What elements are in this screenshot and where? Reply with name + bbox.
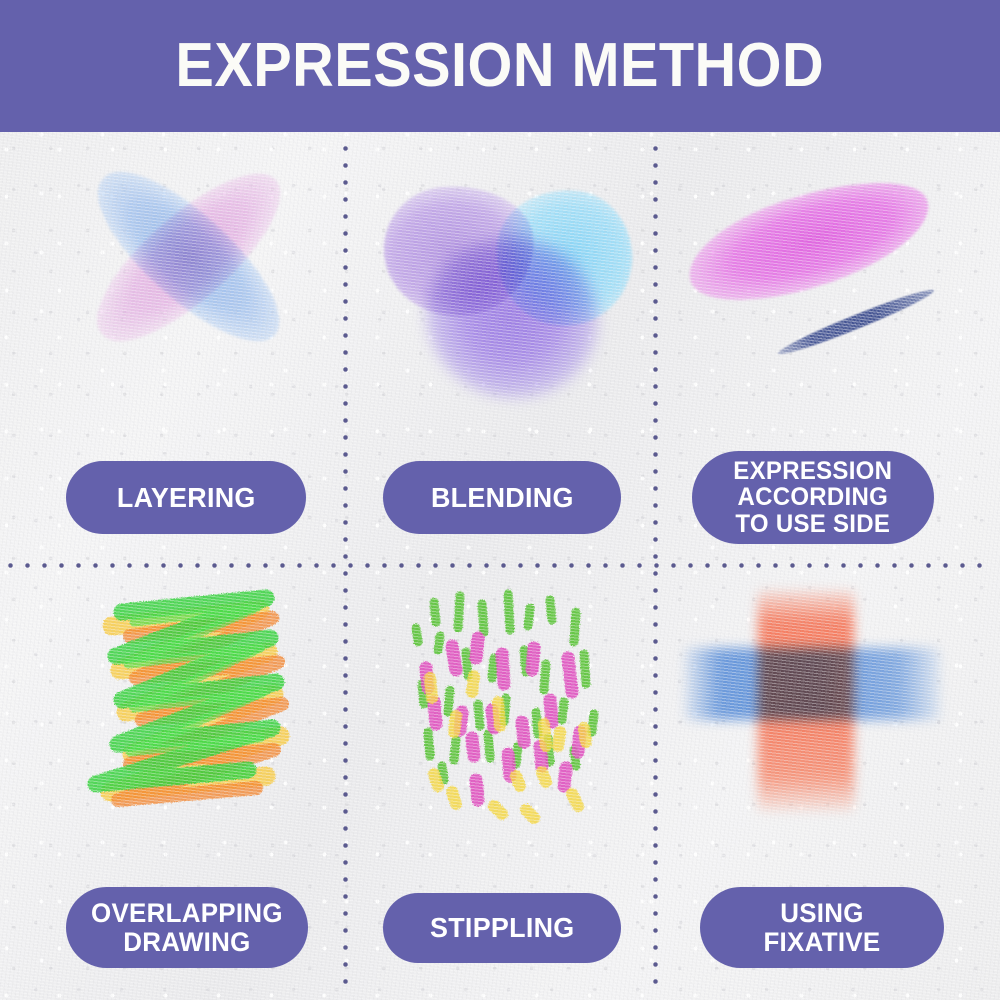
label-pill-using-fixative[interactable]: USING FIXATIVE bbox=[700, 887, 944, 968]
label-pill-overlapping-drawing[interactable]: OVERLAPPING DRAWING bbox=[66, 887, 308, 968]
blending-blended-core bbox=[426, 238, 598, 398]
fixative-orange-band bbox=[758, 590, 854, 812]
label-pill-stippling[interactable]: STIPPLING bbox=[383, 893, 621, 963]
stippling-swatch bbox=[398, 580, 620, 825]
label-pill-layering[interactable]: LAYERING bbox=[66, 461, 306, 534]
layering-swatch bbox=[55, 175, 325, 435]
poster: EXPRESSION METHOD LAYERING BLENDING EXPR… bbox=[0, 0, 1000, 1000]
stippling-dashes bbox=[398, 580, 620, 825]
label-text-using-fixative: USING FIXATIVE bbox=[763, 899, 880, 956]
label-pill-use-side[interactable]: EXPRESSION ACCORDING TO USE SIDE bbox=[692, 451, 934, 544]
label-text-stippling: STIPPLING bbox=[430, 913, 574, 943]
page-title: EXPRESSION METHOD bbox=[176, 35, 825, 97]
header-bar: EXPRESSION METHOD bbox=[0, 0, 1000, 132]
label-text-layering: LAYERING bbox=[117, 483, 256, 513]
label-text-overlapping-drawing: OVERLAPPING DRAWING bbox=[91, 899, 283, 956]
divider-vertical-right bbox=[653, 146, 658, 990]
using-fixative-swatch bbox=[678, 576, 950, 838]
divider-horizontal bbox=[8, 563, 992, 568]
use-side-swatch bbox=[676, 185, 956, 420]
label-pill-blending[interactable]: BLENDING bbox=[383, 461, 621, 534]
divider-vertical-left bbox=[343, 146, 348, 990]
label-text-blending: BLENDING bbox=[431, 483, 574, 513]
overlapping-scribbles bbox=[60, 578, 325, 823]
use-side-thin-navy-stroke bbox=[775, 284, 936, 360]
blending-swatch bbox=[378, 178, 633, 428]
label-text-use-side: EXPRESSION ACCORDING TO USE SIDE bbox=[734, 458, 893, 538]
overlapping-drawing-swatch bbox=[60, 578, 325, 823]
